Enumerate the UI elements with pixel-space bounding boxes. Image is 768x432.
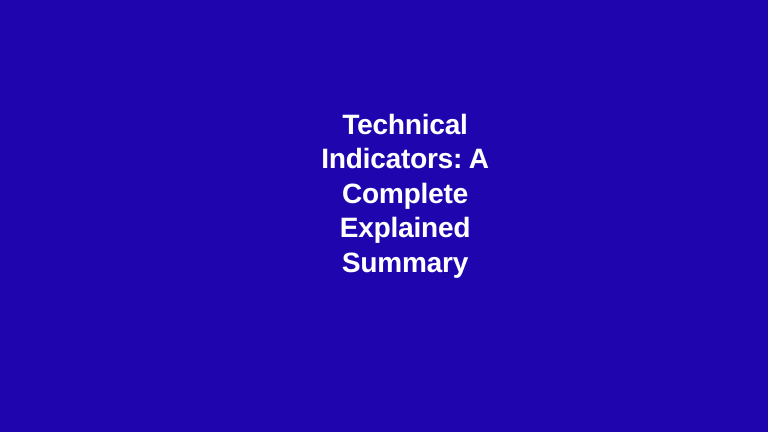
- banner-title: Technical Indicators: A Complete Explain…: [316, 108, 494, 281]
- title-banner: Technical Indicators: A Complete Explain…: [0, 0, 768, 432]
- title-block: Technical Indicators: A Complete Explain…: [0, 0, 768, 432]
